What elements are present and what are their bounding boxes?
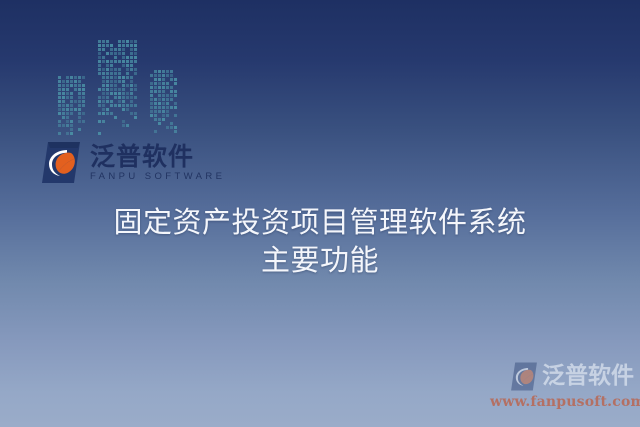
fanpu-hexagon-logo-icon bbox=[36, 140, 86, 185]
brand-logo-text: 泛普软件 FANPU SOFTWARE bbox=[90, 144, 225, 182]
watermark: 泛普软件 www.fanpusoft.com bbox=[490, 361, 634, 409]
watermark-logo-row: 泛普软件 bbox=[490, 361, 634, 392]
promo-banner: 泛普软件 FANPU SOFTWARE 固定资产投资项目管理软件系统 主要功能 … bbox=[0, 0, 640, 427]
page-title: 固定资产投资项目管理软件系统 主要功能 bbox=[0, 203, 640, 279]
pixel-city-skyline-icon bbox=[58, 28, 183, 138]
watermark-brand-name: 泛普软件 bbox=[542, 365, 634, 388]
fanpu-hexagon-logo-icon bbox=[507, 361, 541, 392]
brand-logo: 泛普软件 FANPU SOFTWARE bbox=[36, 140, 225, 185]
watermark-url: www.fanpusoft.com bbox=[490, 395, 632, 409]
skyline-svg bbox=[58, 28, 183, 138]
brand-name-en: FANPU SOFTWARE bbox=[90, 172, 225, 182]
page-title-line-1: 固定资产投资项目管理软件系统 bbox=[0, 203, 640, 241]
brand-name-cn: 泛普软件 bbox=[90, 144, 225, 170]
page-title-line-2: 主要功能 bbox=[0, 241, 640, 279]
